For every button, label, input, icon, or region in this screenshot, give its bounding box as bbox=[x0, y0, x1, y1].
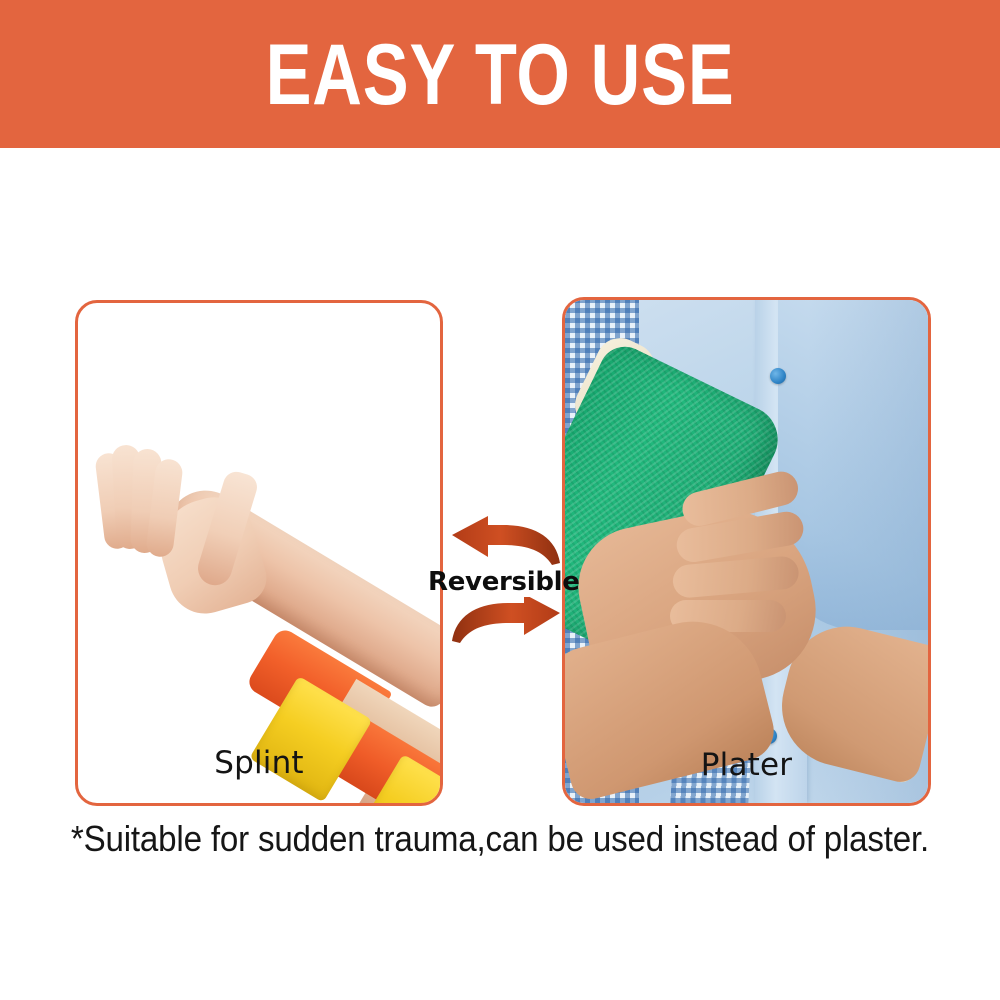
panel-label-splint: Splint bbox=[78, 745, 440, 781]
panel-plater: Plater bbox=[562, 297, 931, 806]
shirt-button bbox=[770, 368, 786, 384]
page-title: EASY TO USE bbox=[266, 32, 735, 118]
panel-splint: Splint bbox=[75, 300, 443, 806]
infographic-page: EASY TO USE Splint bbox=[0, 0, 1000, 1000]
curved-arrow-left-icon bbox=[448, 515, 564, 567]
header-banner: EASY TO USE bbox=[0, 0, 1000, 148]
reversible-indicator: Reversible bbox=[430, 515, 570, 655]
footer-caption: *Suitable for sudden trauma,can be used … bbox=[40, 818, 960, 860]
panel-label-plater: Plater bbox=[565, 747, 928, 783]
plater-photo bbox=[565, 300, 928, 803]
reversible-label: Reversible bbox=[428, 567, 572, 597]
splint-photo bbox=[78, 303, 440, 803]
curved-arrow-right-icon bbox=[448, 597, 564, 649]
